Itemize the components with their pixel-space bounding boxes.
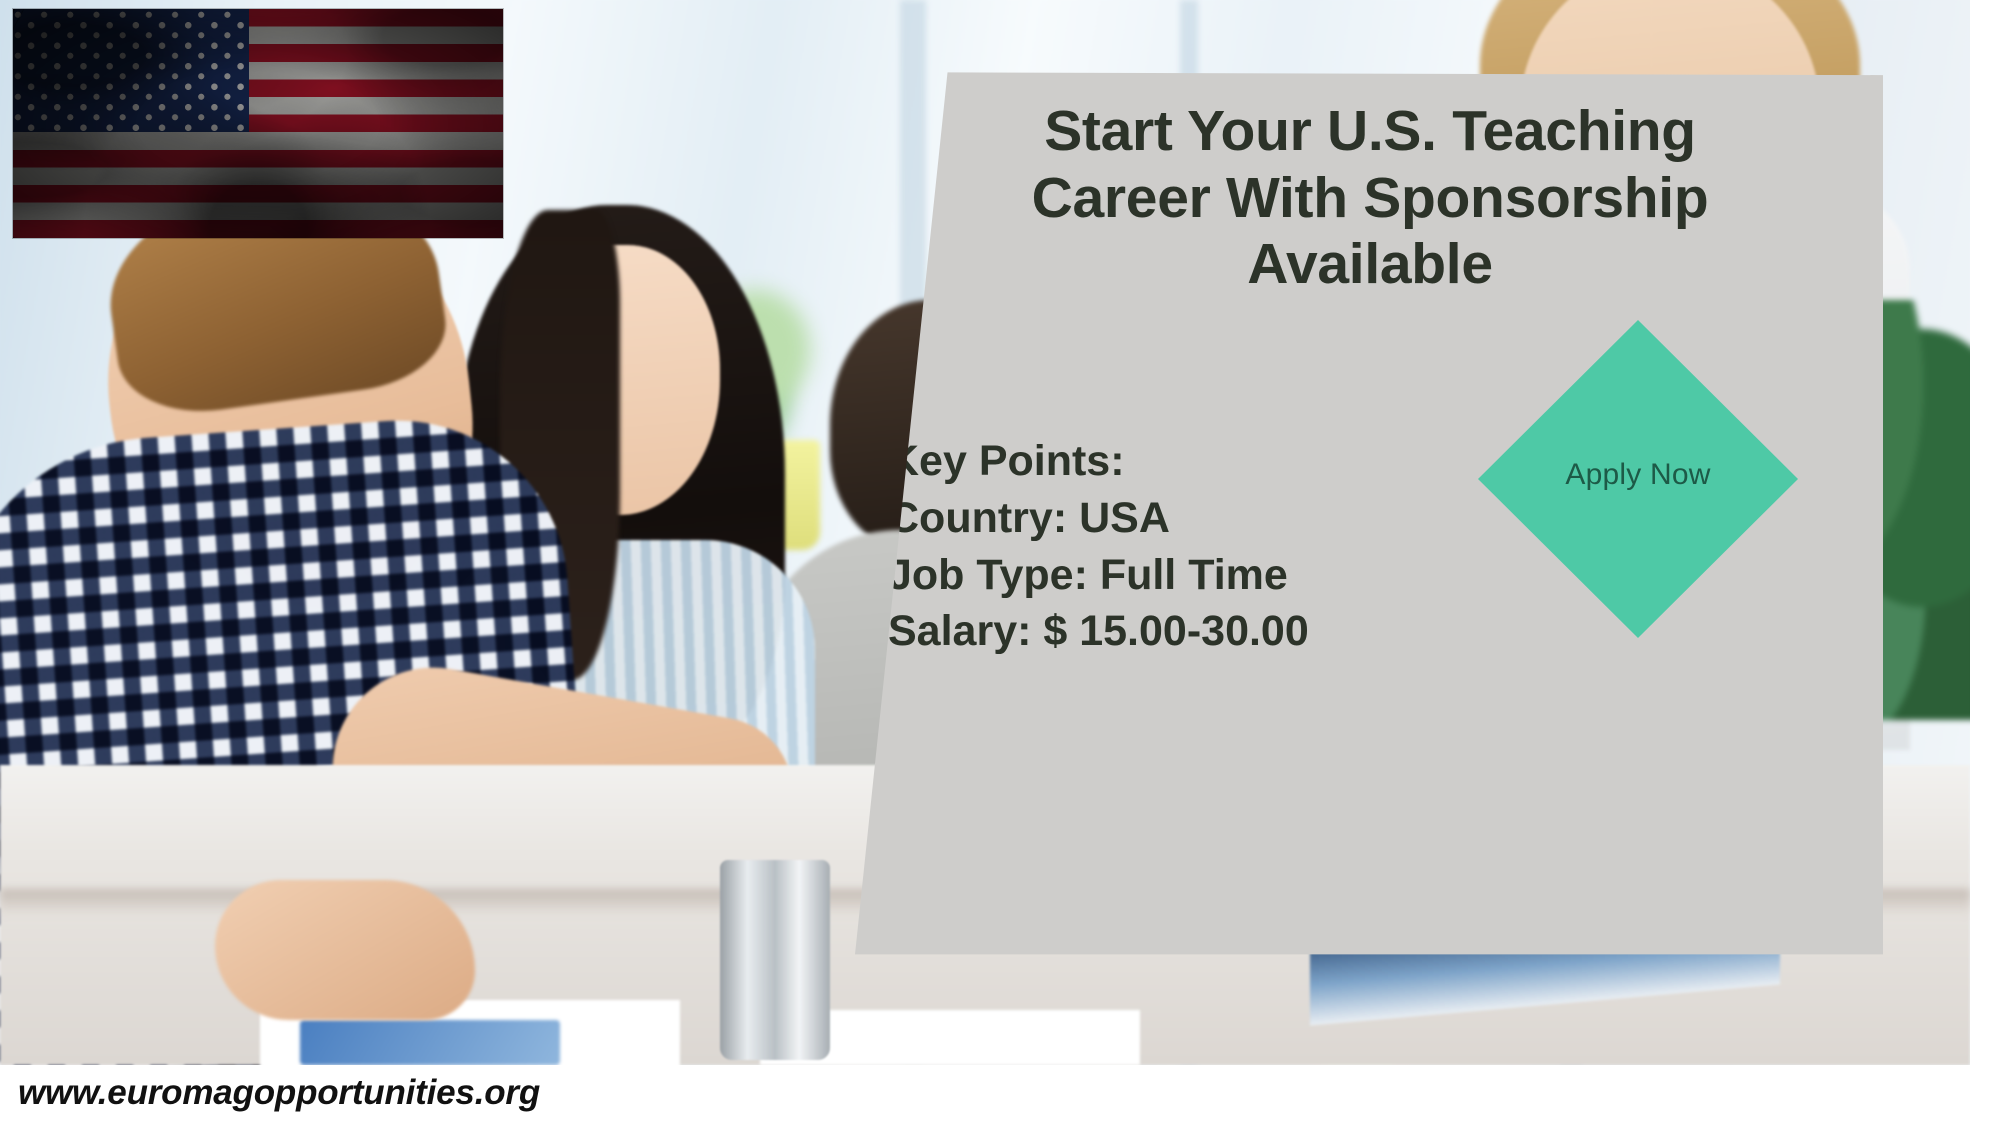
job-advertisement-poster: Start Your U.S. Teaching Career With Spo… [0,0,2000,1125]
page-title-line-1: Start Your U.S. Teaching [925,98,1815,165]
footer-bar: www.euromagopportunities.org [0,1065,2000,1125]
apply-now-button[interactable]: Apply Now [1478,320,1798,638]
page-title-line-3: Available [925,231,1815,298]
apply-now-label: Apply Now [1478,458,1798,492]
key-points-label: Key Points: [888,433,1309,490]
key-point-country: Country: USA [888,490,1309,547]
key-point-salary: Salary: $ 15.00-30.00 [888,603,1309,660]
page-title: Start Your U.S. Teaching Career With Spo… [925,98,1815,298]
flag-vignette [13,9,503,238]
man-hand [215,880,475,1020]
usa-flag-icon [13,9,503,238]
desk-chart-paper [300,1020,560,1065]
website-url[interactable]: www.euromagopportunities.org [18,1073,540,1113]
key-point-job-type: Job Type: Full Time [888,547,1309,604]
key-points-list: Key Points: Country: USA Job Type: Full … [888,433,1309,660]
page-title-line-2: Career With Sponsorship [925,165,1815,232]
metal-tumbler [720,860,830,1060]
info-panel: Start Your U.S. Teaching Career With Spo… [855,58,1883,958]
